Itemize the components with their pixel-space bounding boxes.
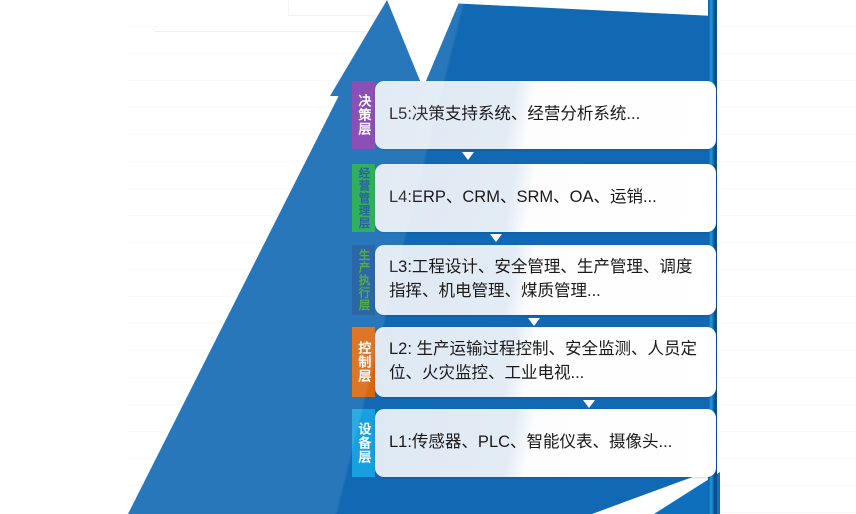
layer-tab-l1[interactable]: 设备层 bbox=[352, 409, 375, 477]
layer-tab-l3[interactable]: 生产执行层 bbox=[352, 245, 375, 315]
diagram-canvas: 决策层 L5:决策支持系统、经营分析系统... 经营管理层 L4:ERP、CRM… bbox=[0, 0, 856, 514]
layer-card-text-l2: L2: 生产运输过程控制、安全监测、人员定位、火灾监控、工业电视... bbox=[389, 338, 702, 386]
layer-card-text-l3: L3:工程设计、安全管理、生产管理、调度指挥、机电管理、煤质管理... bbox=[389, 256, 702, 304]
layer-card-l2[interactable]: L2: 生产运输过程控制、安全监测、人员定位、火灾监控、工业电视... bbox=[375, 327, 716, 397]
layer-tab-l2[interactable]: 控制层 bbox=[352, 327, 375, 397]
layer-card-text-l1: L1:传感器、PLC、智能仪表、摄像头... bbox=[389, 431, 672, 455]
layer-card-l3[interactable]: L3:工程设计、安全管理、生产管理、调度指挥、机电管理、煤质管理... bbox=[375, 245, 716, 315]
layer-card-text-l5: L5:决策支持系统、经营分析系统... bbox=[389, 103, 640, 127]
layer-row-l4[interactable]: 经营管理层 L4:ERP、CRM、SRM、OA、运销... bbox=[352, 164, 716, 232]
layer-gap-arrow-l2 bbox=[583, 400, 595, 408]
layer-card-text-l4: L4:ERP、CRM、SRM、OA、运销... bbox=[389, 186, 657, 210]
layer-row-l2[interactable]: 控制层 L2: 生产运输过程控制、安全监测、人员定位、火灾监控、工业电视... bbox=[352, 327, 716, 397]
layer-row-l3[interactable]: 生产执行层 L3:工程设计、安全管理、生产管理、调度指挥、机电管理、煤质管理..… bbox=[352, 245, 716, 315]
layer-card-l4[interactable]: L4:ERP、CRM、SRM、OA、运销... bbox=[375, 164, 716, 232]
layer-card-l1[interactable]: L1:传感器、PLC、智能仪表、摄像头... bbox=[375, 409, 716, 477]
layer-rows: 决策层 L5:决策支持系统、经营分析系统... 经营管理层 L4:ERP、CRM… bbox=[0, 0, 856, 514]
layer-row-l5[interactable]: 决策层 L5:决策支持系统、经营分析系统... bbox=[352, 81, 716, 149]
layer-tab-l5[interactable]: 决策层 bbox=[352, 81, 375, 149]
layer-gap-arrow-l5 bbox=[462, 152, 474, 160]
layer-gap-arrow-l3 bbox=[528, 318, 540, 326]
layer-gap-arrow-l4 bbox=[490, 234, 502, 242]
layer-card-l5[interactable]: L5:决策支持系统、经营分析系统... bbox=[375, 81, 716, 149]
layer-row-l1[interactable]: 设备层 L1:传感器、PLC、智能仪表、摄像头... bbox=[352, 409, 716, 477]
layer-tab-l4[interactable]: 经营管理层 bbox=[352, 164, 375, 232]
